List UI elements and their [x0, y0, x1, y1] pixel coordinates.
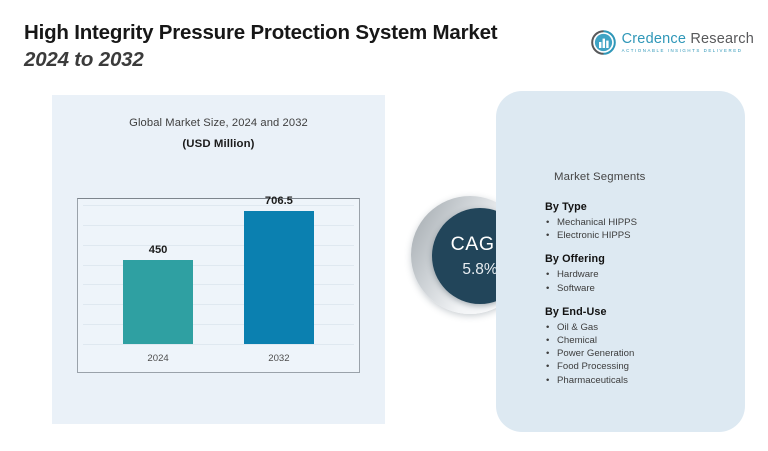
segment-item: •Chemical: [545, 334, 735, 347]
bullet-icon: •: [546, 360, 549, 373]
chart-bars: 4502024706.52032: [78, 199, 359, 372]
segment-item: •Hardware: [545, 268, 735, 281]
bar-category-label: 2024: [147, 353, 168, 364]
segment-group-heading: By End-Use: [545, 306, 735, 318]
bar-chart-circle-icon: [591, 30, 616, 55]
chart-title: Global Market Size, 2024 and 2032: [52, 117, 385, 129]
logo-name-first: Credence: [622, 31, 686, 47]
segment-group: By End-Use•Oil & Gas•Chemical•Power Gene…: [545, 306, 735, 387]
market-segments-panel: Market Segments By Type•Mechanical HIPPS…: [496, 91, 745, 432]
bar-category-label: 2032: [268, 353, 289, 364]
bullet-icon: •: [546, 334, 549, 347]
segment-item: •Pharmaceuticals: [545, 374, 735, 387]
brand-logo: Credence Research Actionable Insights De…: [591, 30, 754, 55]
segment-item: •Oil & Gas: [545, 321, 735, 334]
bar-2032: [244, 211, 314, 344]
segment-item: •Software: [545, 282, 735, 295]
page-title: High Integrity Pressure Protection Syste…: [24, 20, 584, 74]
bullet-icon: •: [546, 216, 549, 229]
bullet-icon: •: [546, 374, 549, 387]
bar-group: 450: [123, 260, 193, 344]
bullet-icon: •: [546, 282, 549, 295]
bar-2024: [123, 260, 193, 344]
segment-item: •Food Processing: [545, 360, 735, 373]
segment-group: By Offering•Hardware•Software: [545, 253, 735, 294]
market-segments-list: By Type•Mechanical HIPPS•Electronic HIPP…: [545, 201, 735, 387]
logo-name-second: Research: [690, 31, 754, 47]
bullet-icon: •: [546, 229, 549, 242]
logo-wordmark: Credence Research Actionable Insights De…: [622, 32, 754, 54]
segment-item: •Electronic HIPPS: [545, 229, 735, 242]
bullet-icon: •: [546, 268, 549, 281]
bar-value-label: 706.5: [265, 195, 293, 207]
segment-group-heading: By Type: [545, 201, 735, 213]
title-line-2: 2024 to 2032: [24, 46, 584, 74]
title-line-1: High Integrity Pressure Protection Syste…: [24, 20, 584, 46]
chart-heading: Global Market Size, 2024 and 2032 (USD M…: [52, 117, 385, 150]
bullet-icon: •: [546, 321, 549, 334]
segment-group-heading: By Offering: [545, 253, 735, 265]
bar-value-label: 450: [149, 244, 168, 256]
bullet-icon: •: [546, 347, 549, 360]
bar-group: 706.5: [244, 211, 314, 344]
chart-units: (USD Million): [52, 138, 385, 150]
segment-item: •Power Generation: [545, 347, 735, 360]
chart-panel: Global Market Size, 2024 and 2032 (USD M…: [52, 95, 385, 424]
cagr-value: 5.8%: [462, 262, 497, 278]
infographic-canvas: High Integrity Pressure Protection Syste…: [0, 0, 768, 451]
segment-group: By Type•Mechanical HIPPS•Electronic HIPP…: [545, 201, 735, 242]
segment-item: •Mechanical HIPPS: [545, 216, 735, 229]
logo-tagline: Actionable Insights Delivered: [622, 49, 754, 53]
market-segments-title: Market Segments: [554, 171, 646, 183]
chart-plot-area: 4502024706.52032: [77, 198, 360, 373]
logo-name: Credence Research: [622, 32, 754, 47]
